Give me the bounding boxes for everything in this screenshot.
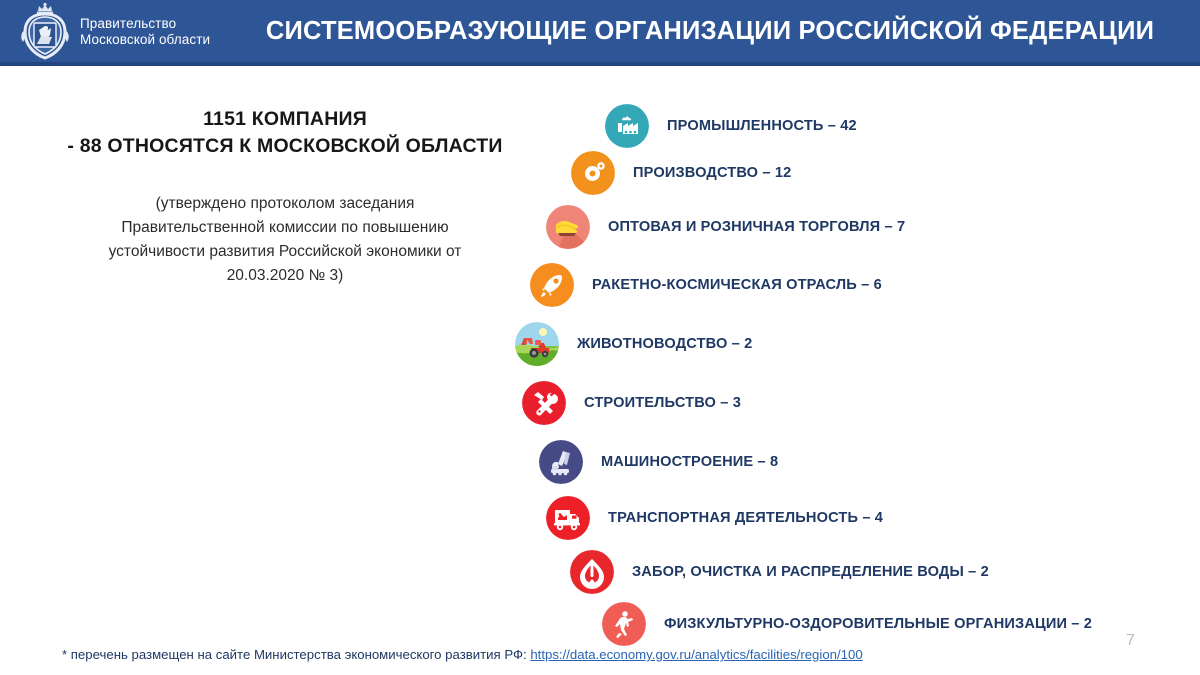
- list-item[interactable]: РАКЕТНО-КОСМИЧЕСКАЯ ОТРАСЛЬ – 6: [530, 263, 882, 307]
- industry-list: ПРОМЫШЛЕННОСТЬ – 42 ПРОИЗВОДСТВО – 12: [0, 0, 1200, 675]
- list-item-label: МАШИНОСТРОЕНИЕ – 8: [601, 454, 778, 470]
- footer-note: * перечень размещен на сайте Министерств…: [62, 647, 863, 662]
- list-item-label: ФИЗКУЛЬТУРНО-ОЗДОРОВИТЕЛЬНЫЕ ОРГАНИЗАЦИИ…: [664, 616, 1092, 632]
- list-item[interactable]: ФИЗКУЛЬТУРНО-ОЗДОРОВИТЕЛЬНЫЕ ОРГАНИЗАЦИИ…: [602, 602, 1092, 646]
- excavator-icon: [539, 440, 583, 484]
- hammer-wrench-icon: [522, 381, 566, 425]
- list-item-label: ПРОМЫШЛЕННОСТЬ – 42: [667, 118, 857, 134]
- money-hand-icon: [546, 205, 590, 249]
- water-drop-tap-icon: [570, 550, 614, 594]
- list-item-label: СТРОИТЕЛЬСТВО – 3: [584, 395, 741, 411]
- rocket-icon: [530, 263, 574, 307]
- delivery-truck-icon: [546, 496, 590, 540]
- footer-note-text: * перечень размещен на сайте Министерств…: [62, 647, 530, 662]
- list-item-label: ТРАНСПОРТНАЯ ДЕЯТЕЛЬНОСТЬ – 4: [608, 510, 883, 526]
- list-item[interactable]: СТРОИТЕЛЬСТВО – 3: [522, 381, 741, 425]
- factory-icon: [605, 104, 649, 148]
- list-item[interactable]: ПРОИЗВОДСТВО – 12: [571, 151, 791, 195]
- gears-icon: [571, 151, 615, 195]
- list-item-label: РАКЕТНО-КОСМИЧЕСКАЯ ОТРАСЛЬ – 6: [592, 277, 882, 293]
- list-item-label: ЖИВОТНОВОДСТВО – 2: [577, 336, 752, 352]
- list-item[interactable]: ЗАБОР, ОЧИСТКА И РАСПРЕДЕЛЕНИЕ ВОДЫ – 2: [570, 550, 989, 594]
- source-link[interactable]: https://data.economy.gov.ru/analytics/fa…: [530, 647, 862, 662]
- list-item-label: ЗАБОР, ОЧИСТКА И РАСПРЕДЕЛЕНИЕ ВОДЫ – 2: [632, 564, 989, 580]
- list-item-label: ОПТОВАЯ И РОЗНИЧНАЯ ТОРГОВЛЯ – 7: [608, 219, 905, 235]
- list-item[interactable]: ТРАНСПОРТНАЯ ДЕЯТЕЛЬНОСТЬ – 4: [546, 496, 883, 540]
- list-item-label: ПРОИЗВОДСТВО – 12: [633, 165, 791, 181]
- list-item[interactable]: МАШИНОСТРОЕНИЕ – 8: [539, 440, 778, 484]
- tractor-farm-icon: [515, 322, 559, 366]
- list-item[interactable]: ОПТОВАЯ И РОЗНИЧНАЯ ТОРГОВЛЯ – 7: [546, 205, 905, 249]
- list-item[interactable]: ЖИВОТНОВОДСТВО – 2: [515, 322, 752, 366]
- list-item[interactable]: ПРОМЫШЛЕННОСТЬ – 42: [605, 104, 857, 148]
- page-number: 7: [1126, 632, 1135, 650]
- running-person-icon: [602, 602, 646, 646]
